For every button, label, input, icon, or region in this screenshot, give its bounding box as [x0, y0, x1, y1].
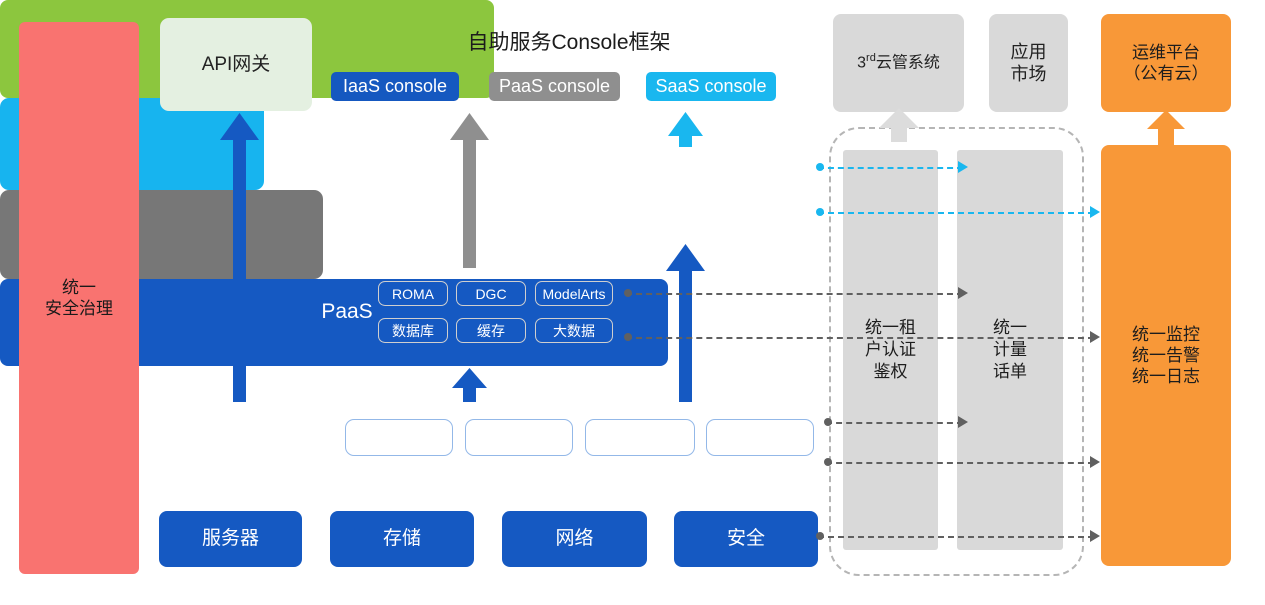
- paas-item-dgc[interactable]: DGC: [456, 281, 526, 306]
- third-party-cloud-box: 3rd云管系统: [833, 14, 964, 112]
- arrow-ops-column-to-ops-platform: [1147, 110, 1185, 146]
- arrow-infra-to-paas: [452, 368, 487, 402]
- infra-item-network[interactable]: Network: [585, 419, 695, 456]
- resource-storage-box: 存储: [330, 511, 474, 567]
- connector-arrowhead-saas-2: [1090, 206, 1100, 218]
- paas-item-roma[interactable]: ROMA: [378, 281, 448, 306]
- app-market-box: 应用 市场: [989, 14, 1068, 112]
- iaas-console-button[interactable]: IaaS console: [331, 72, 459, 101]
- connector-security-to-ops: [818, 536, 1094, 538]
- saas-item-video-cloud[interactable]: 视频云: [641, 197, 716, 223]
- saas-item-desktop-cloud[interactable]: 桌面云: [724, 197, 799, 223]
- saas-layer-label: SaaS: [562, 179, 640, 203]
- unified-tenant-auth-column: 统一租 户认证 鉴权: [843, 150, 938, 550]
- connector-saas-to-ops: [818, 212, 1094, 214]
- ops-platform-box: 运维平台 （公有云）: [1101, 14, 1231, 112]
- connector-saas-to-auth: [818, 167, 963, 169]
- infrastructure-layer-label: 统一基础设施服务: [170, 428, 340, 455]
- paas-item-cache[interactable]: 缓存: [456, 318, 526, 343]
- arrow-saas-to-saas-console: [668, 112, 703, 147]
- unified-metering-column: 统一 计量 话单: [957, 150, 1063, 550]
- resource-security-box: 安全: [674, 511, 818, 567]
- connector-arrowhead-infra-2: [1090, 456, 1100, 468]
- infra-item-compute[interactable]: Compute: [345, 419, 453, 456]
- infra-item-cce[interactable]: CCE: [706, 419, 814, 456]
- ops-monitoring-column: 统一监控 统一告警 统一日志: [1101, 145, 1231, 566]
- paas-item-database[interactable]: 数据库: [378, 318, 448, 343]
- paas-console-button[interactable]: PaaS console: [489, 72, 620, 101]
- paas-item-modelarts[interactable]: ModelArts: [535, 281, 613, 306]
- paas-item-bigdata[interactable]: 大数据: [535, 318, 613, 343]
- connector-dot-security: [816, 532, 824, 540]
- architecture-diagram: 统一 安全治理 API网关 自助服务Console框架 IaaS console…: [0, 0, 1265, 605]
- connector-arrowhead-paas-2: [1090, 331, 1100, 343]
- arrow-paas-to-console: [450, 113, 489, 268]
- connector-paas-to-auth: [626, 293, 963, 295]
- saas-console-button[interactable]: SaaS console: [646, 72, 776, 101]
- security-governance-column: 统一 安全治理: [19, 22, 139, 574]
- paas-layer-label: PaaS: [312, 300, 382, 324]
- resource-server-box: 服务器: [159, 511, 302, 567]
- console-framework-title: 自助服务Console框架: [322, 26, 816, 56]
- api-gateway-box: API网关: [160, 18, 312, 111]
- connector-arrowhead-paas-1: [958, 287, 968, 299]
- connector-infra-to-ops: [826, 462, 1094, 464]
- connector-dot-infra-2: [824, 458, 832, 466]
- resource-network-box: 网络: [502, 511, 647, 567]
- saas-item-blockchain[interactable]: 区块链: [641, 160, 716, 186]
- saas-item-iot[interactable]: IoT: [724, 160, 799, 186]
- connector-dot-saas-1: [816, 163, 824, 171]
- connector-dot-paas-2: [624, 333, 632, 341]
- connector-dot-paas-1: [624, 289, 632, 297]
- connector-infra-to-auth: [826, 422, 963, 424]
- third-party-cloud-label: 3rd云管系统: [857, 52, 940, 73]
- infra-item-storage[interactable]: Storage: [465, 419, 573, 456]
- connector-dot-infra-1: [824, 418, 832, 426]
- connector-dot-saas-2: [816, 208, 824, 216]
- arrow-infra-to-saas: [666, 244, 705, 402]
- connector-arrowhead-security: [1090, 530, 1100, 542]
- connector-arrowhead-infra-1: [958, 416, 968, 428]
- connector-paas-to-ops: [626, 337, 1094, 339]
- connector-arrowhead-saas-1: [958, 161, 968, 173]
